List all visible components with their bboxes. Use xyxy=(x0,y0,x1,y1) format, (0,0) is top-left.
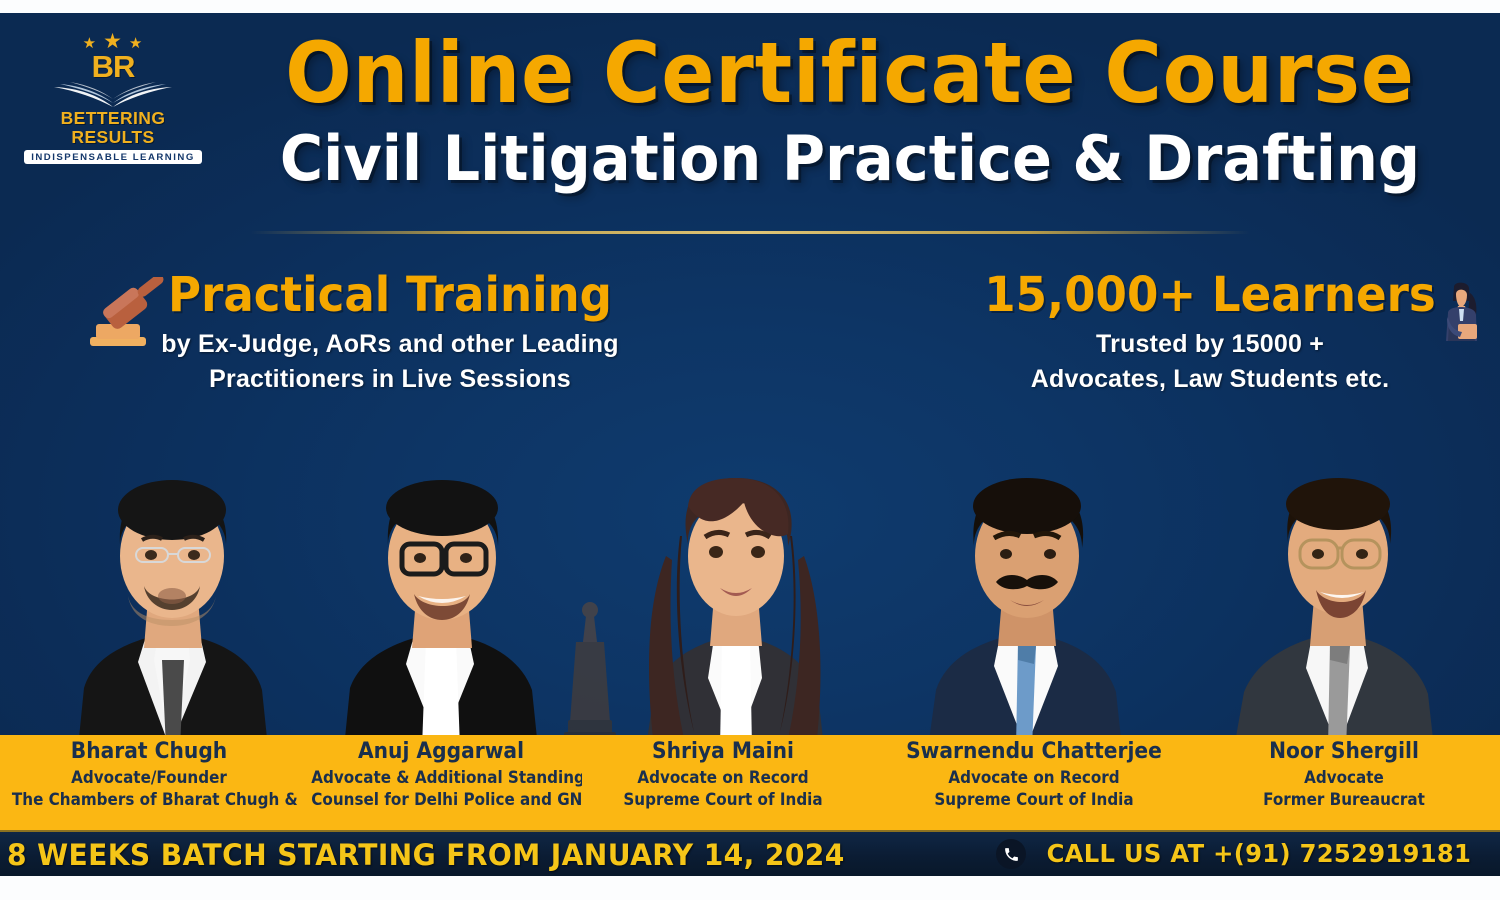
logo-brand-name: BETTERING RESULTS xyxy=(18,109,208,147)
feature-line-1: Trusted by 15000 + xyxy=(930,327,1490,362)
speaker-role-1: Advocate on Record xyxy=(602,767,843,789)
speaker-role-1: Advocate on Record xyxy=(878,767,1191,789)
top-white-strip xyxy=(0,0,1500,13)
speaker-role-2: Supreme Court of India xyxy=(602,789,843,811)
logo-monogram: BR xyxy=(18,52,208,82)
logo-tagline: INDISPENSABLE LEARNING xyxy=(24,150,202,164)
speaker-name: Anuj Aggarwal xyxy=(311,735,570,767)
speaker-role-1: Advocate/Founder xyxy=(12,767,286,789)
speaker-photo-1 xyxy=(40,448,300,748)
speaker-role-2: Former Bureaucrat xyxy=(1224,789,1463,811)
page-subtitle: Civil Litigation Practice & Drafting xyxy=(242,123,1458,195)
footer-bar: 8 WEEKS BATCH STARTING FROM JANUARY 14, … xyxy=(0,830,1500,878)
speaker-role-2: Supreme Court of India xyxy=(878,789,1191,811)
feature-practical-training: Practical Training by Ex-Judge, AoRs and… xyxy=(60,263,720,397)
speaker-role-2: The Chambers of Bharat Chugh & Ex-Judge xyxy=(12,789,286,811)
speaker-name-cell-3: Shriya Maini Advocate on Record Supreme … xyxy=(592,735,854,830)
speaker-name: Noor Shergill xyxy=(1224,735,1463,767)
speaker-name-bar: Bharat Chugh Advocate/Founder The Chambe… xyxy=(0,735,1500,830)
speaker-photo-4 xyxy=(900,448,1150,748)
batch-start-text: 8 WEEKS BATCH STARTING FROM JANUARY 14, … xyxy=(7,838,845,872)
course-promo-banner: ★★★ BR BETTERING RESULTS INDISPENSABLE L… xyxy=(0,0,1500,900)
feature-heading: 15,000+ Learners xyxy=(947,263,1473,327)
speaker-role-2: Counsel for Delhi Police and GNCTD xyxy=(311,789,570,811)
bottom-white-strip xyxy=(0,876,1500,900)
gold-divider xyxy=(250,231,1250,234)
page-title: Online Certificate Course xyxy=(255,27,1445,119)
phone-icon[interactable] xyxy=(996,839,1026,869)
speaker-photo-strip xyxy=(0,435,1500,748)
headline-block: Online Certificate Course Civil Litigati… xyxy=(210,27,1490,195)
brand-logo[interactable]: ★★★ BR BETTERING RESULTS INDISPENSABLE L… xyxy=(18,35,208,175)
feature-line-2: Practitioners in Live Sessions xyxy=(60,362,720,397)
speaker-photo-5 xyxy=(1210,448,1460,748)
speaker-role-1: Advocate & Additional Standing xyxy=(311,767,570,789)
speaker-name-cell-4: Swarnendu Chatterjee Advocate on Record … xyxy=(864,735,1204,830)
feature-line-2: Advocates, Law Students etc. xyxy=(930,362,1490,397)
speaker-name: Shriya Maini xyxy=(602,735,843,767)
feature-learners-count: 15,000+ Learners Trusted by 15000 + Advo… xyxy=(930,263,1490,397)
speaker-name-cell-1: Bharat Chugh Advocate/Founder The Chambe… xyxy=(0,735,298,830)
speaker-photo-2 xyxy=(310,448,570,748)
call-us-text: CALL US AT +(91) 7252919181 xyxy=(1047,838,1472,870)
open-book-icon xyxy=(52,82,174,108)
speaker-name: Swarnendu Chatterjee xyxy=(878,735,1191,767)
speaker-name-cell-5: Noor Shergill Advocate Former Bureaucrat xyxy=(1214,735,1474,830)
feature-heading: Practical Training xyxy=(80,263,700,327)
speaker-name-cell-2: Anuj Aggarwal Advocate & Additional Stan… xyxy=(300,735,582,830)
speaker-photo-3 xyxy=(610,448,860,748)
speaker-name: Bharat Chugh xyxy=(12,735,286,767)
speaker-role-1: Advocate xyxy=(1224,767,1463,789)
call-us-group[interactable]: CALL US AT +(91) 7252919181 xyxy=(996,838,1478,870)
